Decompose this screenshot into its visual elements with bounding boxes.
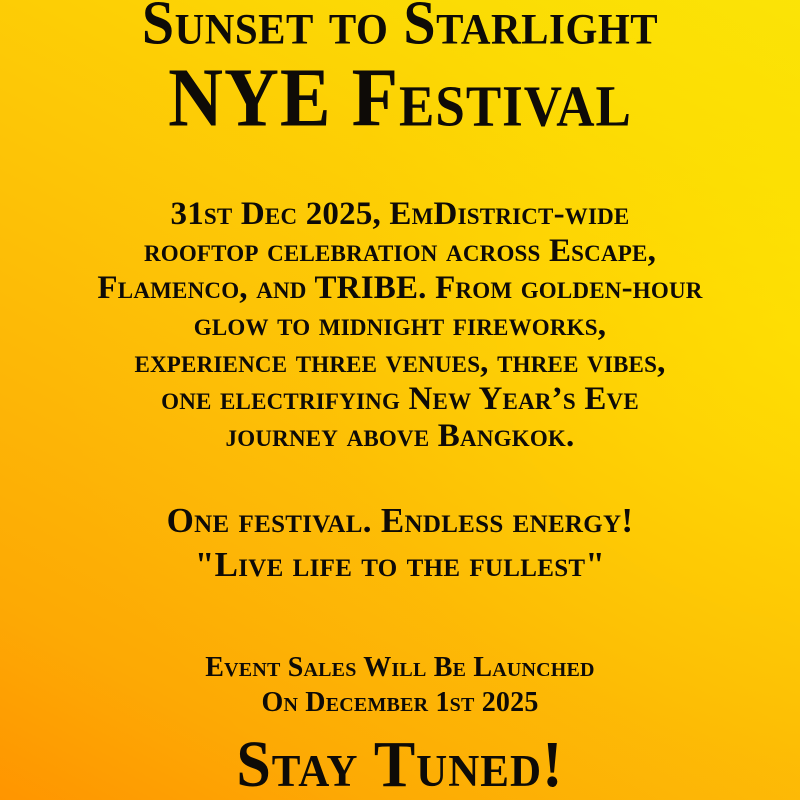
poster-content-layer: Sunset to Starlight NYE Festival 31st De… bbox=[0, 0, 800, 800]
poster-canvas: Sunset to Starlight NYE Festival 31st De… bbox=[0, 0, 800, 800]
sales-notice-line: Event Sales Will Be Launched bbox=[30, 650, 770, 685]
description-line: journey above Bangkok. bbox=[40, 418, 760, 455]
poster-title-primary: Sunset to Starlight bbox=[0, 0, 800, 54]
call-to-action-text: Stay Tuned! bbox=[0, 731, 800, 799]
description-line: experience three venues, three vibes, bbox=[40, 344, 760, 381]
description-line: Flamenco, and TRIBE. From golden-hour bbox=[40, 270, 760, 307]
headline-block: Sunset to Starlight NYE Festival bbox=[0, 0, 800, 132]
sales-notice-block: Event Sales Will Be Launched On December… bbox=[30, 650, 770, 720]
sales-notice-date: On December 1st 2025 bbox=[30, 685, 770, 720]
description-block: 31st Dec 2025, EmDistrict-wide rooftop c… bbox=[40, 196, 760, 455]
poster-title-secondary: NYE Festival bbox=[0, 56, 800, 140]
description-line: 31st Dec 2025, EmDistrict-wide bbox=[40, 196, 760, 233]
tagline-slogan-quote: "Live life to the fullest" bbox=[30, 543, 770, 587]
description-line: glow to midnight fireworks, bbox=[40, 307, 760, 344]
tagline-line: One festival. Endless energy! bbox=[30, 499, 770, 543]
description-line: rooftop celebration across Escape, bbox=[40, 233, 760, 270]
description-line: one electrifying New Year’s Eve bbox=[40, 381, 760, 418]
tagline-block: One festival. Endless energy! "Live life… bbox=[30, 499, 770, 587]
